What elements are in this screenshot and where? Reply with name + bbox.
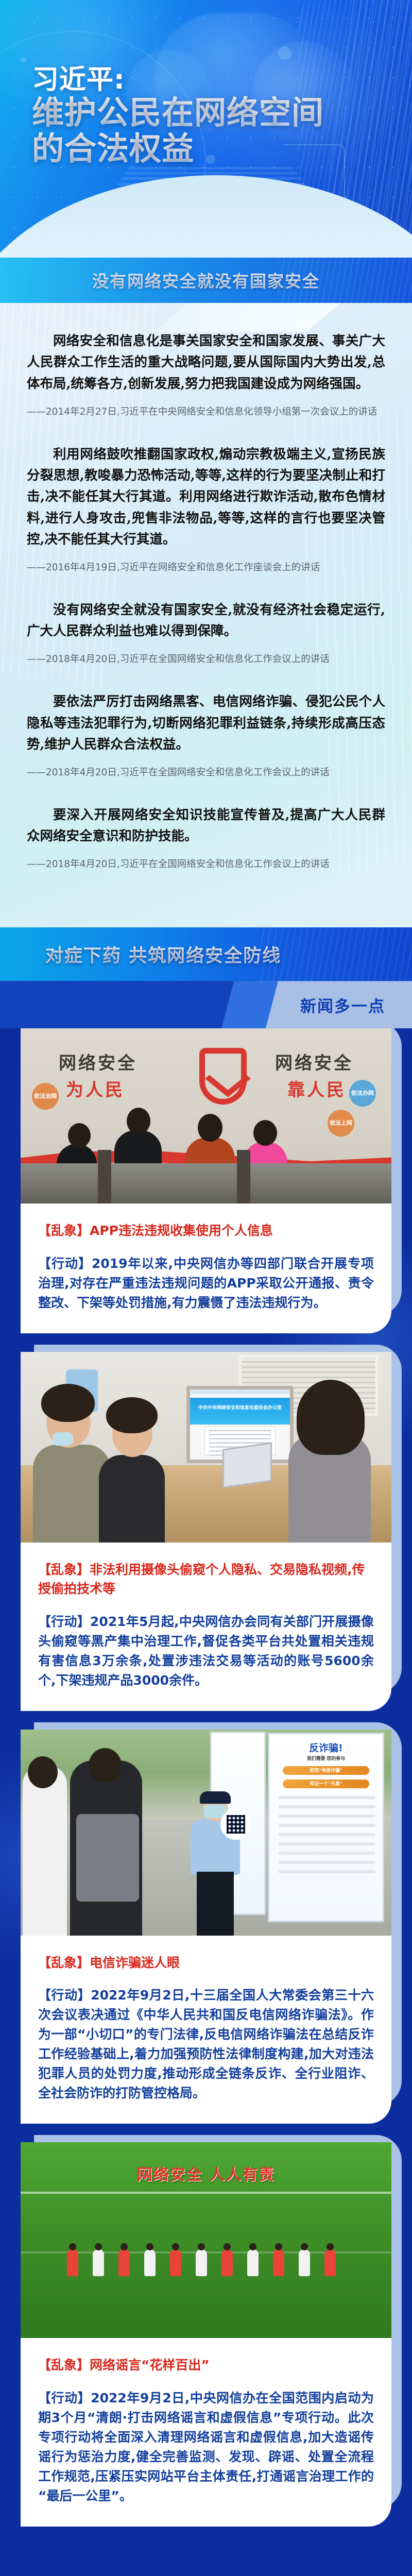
quote-block: 网络安全和信息化是事关国家安全和国家发展、事关广大人民群众工作生活的重大战略问题… [27, 331, 385, 419]
quote-source: ——2016年4月19日,习近平在网络安全和信息化工作座谈会上的讲话 [27, 561, 385, 575]
card-inner: 网络安全 人人有责 【乱象】网络谣言“花样百出” 【行动】2022年9月2日,中… [21, 2142, 391, 2527]
page-title-line2: 维护公民在网络空间 [32, 95, 324, 130]
police-officer [191, 1781, 240, 1936]
board-line [279, 1852, 375, 1855]
student-figure [196, 2249, 207, 2276]
page-title: 习近平: 维护公民在网络空间 的合法权益 [32, 65, 324, 166]
board-title: 反诈骗! [273, 1740, 379, 1754]
quote-block: 没有网络安全就没有国家安全,就没有经济社会稳定运行,广大人民群众利益也难以得到保… [27, 600, 385, 667]
quote-source: ——2018年4月20日,习近平在全国网络安全和信息化工作会议上的讲话 [27, 857, 385, 872]
card-action-text: 【行动】2022年9月2日,中央网信办在全国范围内启动为期3个月“清朗·打击网络… [38, 2388, 374, 2506]
card-text: 【乱象】网络谣言“花样百出” 【行动】2022年9月2日,中央网信办在全国范围内… [21, 2338, 391, 2527]
quote-body: 网络安全和信息化是事关国家安全和国家发展、事关广大人民群众工作生活的重大战略问题… [27, 331, 385, 395]
info-card: 网络安全 网络安全 为人民 靠人民 依法治网 依法办网 依法上网 [21, 1028, 391, 1333]
monitor-site-title: 中共中央网络安全和信息化委员会办公室 [190, 1404, 290, 1411]
photo-pedestrian-head [28, 1756, 58, 1788]
photo-pedestrian [23, 1766, 67, 1936]
card-text: 【乱象】电信诈骗迷人眼 【行动】2022年9月2日,十三届全国人大常委会第三十六… [21, 1936, 391, 2124]
card-action-text: 【行动】2019年以来,中央网信办等四部门联合开展专项治理,对存在严重违法违规问… [38, 1254, 374, 1313]
page-title-line3: 的合法权益 [32, 131, 324, 166]
pill-rule-1: 依法治网 [32, 1083, 59, 1110]
board-chip-1: 防范“电信诈骗” [283, 1766, 369, 1775]
pill-rule-3: 依法上网 [328, 1110, 354, 1137]
face-mask [53, 1432, 73, 1446]
quote-body: 要依法严厉打击网络黑客、电信网络诈骗、侵犯公民个人隐私等违法犯罪行为,切断网络犯… [27, 691, 385, 755]
photo-person-head [127, 1108, 150, 1134]
photo-person-head [253, 1120, 277, 1146]
quote-source: ——2018年4月20日,习近平在全国网络安全和信息化工作会议上的讲话 [27, 766, 385, 780]
photo-pedestrian-head [89, 1748, 122, 1783]
quotes-section: 网络安全和信息化是事关国家安全和国家发展、事关广大人民群众工作生活的重大战略问题… [0, 303, 412, 927]
section-header-remedy: 对症下药 共筑网络安全防线 新闻多一点 [0, 927, 412, 1028]
student-figure [273, 2249, 284, 2276]
card-text: 【乱象】APP违法违规收集使用个人信息 【行动】2019年以来,中央网信办等四部… [21, 1204, 391, 1333]
field-slogan: 网络安全 人人有责 [21, 2162, 391, 2184]
photo-person-head [68, 1123, 91, 1148]
police-trousers [197, 1872, 234, 1936]
photo-railing [21, 1163, 391, 1204]
card-issue-title: 【乱象】APP违法违规收集使用个人信息 [38, 1221, 374, 1241]
quote-body: 没有网络安全就没有国家安全,就没有经济社会稳定运行,广大人民群众利益也难以得到保… [27, 600, 385, 642]
board-line [279, 1861, 375, 1864]
monitor-toolbar [190, 1389, 290, 1394]
field-line [21, 2192, 391, 2194]
quote-body: 要深入开展网络安全知识技能宣传普及,提高广大人民群众网络安全意识和防护技能。 [27, 805, 385, 848]
banner-text: 没有网络安全就没有国家安全 [92, 268, 320, 292]
banner-no-cybersecurity: 没有网络安全就没有国家安全 [0, 258, 412, 303]
police-cap [200, 1791, 231, 1804]
photo-person-hair [106, 1397, 158, 1433]
card-action-text: 【行动】2022年9月2日,十三届全国人大常委会第三十六次会议表决通过《中华人民… [38, 1986, 374, 2103]
board-line [279, 1824, 375, 1827]
board-line [279, 1805, 375, 1808]
cards-section: 网络安全 网络安全 为人民 靠人民 依法治网 依法办网 依法上网 [0, 1028, 412, 2561]
info-card: 反诈骗! 我们需要 您的参与 防范“电信诈骗” 牢记一个“凡是” [21, 1730, 391, 2124]
hero-header: 习近平: 维护公民在网络空间 的合法权益 [0, 0, 412, 258]
card-issue-title: 【乱象】非法利用摄像头偷窥个人隐私、交易隐私视频,传授偷拍技术等 [38, 1560, 374, 1599]
quote-block: 要深入开展网络安全知识技能宣传普及,提高广大人民群众网络安全意识和防护技能。 —… [27, 805, 385, 872]
laptop [222, 1442, 272, 1488]
board-line [279, 1870, 375, 1873]
photo-person-head [198, 1114, 222, 1142]
info-board-primary: 反诈骗! 我们需要 您的参与 防范“电信诈骗” 牢记一个“凡是” [268, 1733, 384, 1922]
section-title: 对症下药 共筑网络安全防线 [45, 941, 281, 968]
card-inner: 反诈骗! 我们需要 您的参与 防范“电信诈骗” 牢记一个“凡是” [21, 1730, 391, 2124]
card-photo: 网络安全 人人有责 [21, 2142, 391, 2338]
photo-person [99, 1455, 165, 1543]
student-figure [221, 2249, 233, 2276]
qr-code-fan [220, 1809, 251, 1840]
card-inner: 中共中央网络安全和信息化委员会办公室 【乱象】非法利用摄像头偷窥个人隐私、交易隐… [21, 1352, 391, 1711]
student-figure [67, 2249, 78, 2276]
photo-pedestrian-skirt [76, 1814, 139, 1902]
info-card: 网络安全 人人有责 【乱象】网络谣言“花样百出” 【行动】2022年9月2日,中… [21, 2142, 391, 2527]
student-figure [118, 2249, 130, 2276]
board-line [279, 1833, 375, 1836]
card-photo: 网络安全 网络安全 为人民 靠人民 依法治网 依法办网 依法上网 [21, 1028, 391, 1204]
quote-block: 要依法严厉打击网络黑客、电信网络诈骗、侵犯公民个人隐私等违法犯罪行为,切断网络犯… [27, 691, 385, 780]
card-inner: 网络安全 网络安全 为人民 靠人民 依法治网 依法办网 依法上网 [21, 1028, 391, 1333]
shield-icon [199, 1048, 247, 1105]
photo-post [237, 1150, 250, 1204]
bubble-1 [278, 46, 291, 60]
card-photo: 反诈骗! 我们需要 您的参与 防范“电信诈骗” 牢记一个“凡是” [21, 1730, 391, 1936]
board-chip-2: 牢记一个“凡是” [283, 1780, 369, 1788]
board-line [279, 1815, 375, 1818]
quote-body: 利用网络鼓吹推翻国家政权,煽动宗教极端主义,宣扬民族分裂思想,教唆暴力恐怖活动,… [27, 444, 385, 550]
page-footer: LIAN BO+ 联播+ CCTV com 央视网 [0, 2561, 412, 2576]
card-issue-title: 【乱象】网络谣言“花样百出” [38, 2355, 374, 2375]
card-issue-title: 【乱象】电信诈骗迷人眼 [38, 1953, 374, 1973]
board-subtitle: 我们需要 您的参与 [273, 1755, 379, 1761]
student-figure [170, 2249, 181, 2276]
student-figure [299, 2249, 310, 2276]
pill-rule-2: 依法办网 [349, 1080, 376, 1107]
quote-source: ——2018年4月20日,习近平在全国网络安全和信息化工作会议上的讲话 [27, 652, 385, 667]
section-header-bar: 对症下药 共筑网络安全防线 [0, 927, 412, 981]
quote-source: ——2014年2月27日,习近平在中央网络安全和信息化领导小组第一次会议上的讲话 [27, 405, 385, 419]
photo-post [98, 1150, 111, 1204]
quotes-wedge [154, 303, 340, 332]
photo-person-hair [41, 1384, 95, 1422]
section-subtitle: 新闻多一点 [300, 993, 385, 1016]
bubble-4 [21, 57, 27, 63]
student-figure [324, 2249, 336, 2276]
monitor-site-header [190, 1398, 290, 1425]
card-photo: 中共中央网络安全和信息化委员会办公室 [21, 1352, 391, 1543]
student-figure [93, 2249, 104, 2276]
card-text: 【乱象】非法利用摄像头偷窥个人隐私、交易隐私视频,传授偷拍技术等 【行动】202… [21, 1543, 391, 1711]
info-card: 中共中央网络安全和信息化委员会办公室 【乱象】非法利用摄像头偷窥个人隐私、交易隐… [21, 1352, 391, 1711]
page-title-line1: 习近平: [32, 65, 324, 95]
quote-block: 利用网络鼓吹推翻国家政权,煽动宗教极端主义,宣扬民族分裂思想,教唆暴力恐怖活动,… [27, 444, 385, 575]
board-line [279, 1842, 375, 1845]
student-figure [144, 2249, 156, 2276]
student-figure [247, 2249, 259, 2276]
photo-person-hair [297, 1380, 365, 1455]
board-line [279, 1796, 375, 1799]
card-action-text: 【行动】2021年5月起,中央网信办会同有关部门开展摄像头偷窥等黑产集中治理工作… [38, 1612, 374, 1690]
